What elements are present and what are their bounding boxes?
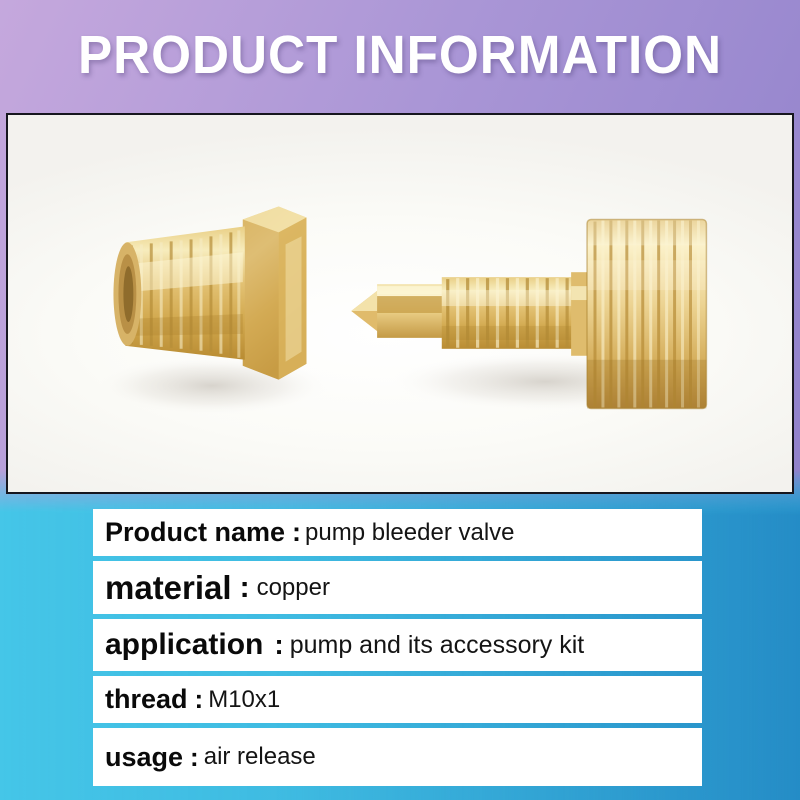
spec-separator: :	[285, 517, 305, 548]
spec-row-usage: usage : air release	[93, 728, 702, 786]
spec-separator: :	[232, 571, 257, 605]
product-photo-frame	[6, 113, 794, 494]
product-photo-illustration	[8, 115, 792, 494]
hex-plug-graphic	[113, 207, 306, 380]
spec-row-product-name: Product name : pump bleeder valve	[93, 509, 702, 556]
spec-row-material: material : copper	[93, 561, 702, 614]
spec-separator: :	[183, 742, 204, 773]
spec-row-application: application : pump and its accessory kit	[93, 619, 702, 671]
page-header: PRODUCT INFORMATION	[0, 0, 800, 110]
product-photo	[8, 115, 792, 492]
spec-value: pump and its accessory kit	[290, 631, 585, 660]
spec-label: usage	[105, 742, 183, 773]
spec-label: material	[105, 569, 232, 607]
spec-value: M10x1	[208, 686, 280, 714]
spec-label: application	[105, 628, 263, 662]
page-title: PRODUCT INFORMATION	[78, 28, 722, 82]
spec-value: pump bleeder valve	[305, 519, 514, 547]
spec-label: thread	[105, 684, 188, 715]
spec-label: Product name	[105, 517, 285, 548]
product-information-page: PRODUCT INFORMATION	[0, 0, 800, 800]
spec-row-thread: thread : M10x1	[93, 676, 702, 723]
spec-value: copper	[257, 574, 330, 602]
spec-separator: :	[188, 684, 209, 715]
specification-list: Product name : pump bleeder valve materi…	[93, 509, 702, 786]
spec-separator: :	[263, 629, 289, 661]
spec-value: air release	[204, 743, 316, 771]
